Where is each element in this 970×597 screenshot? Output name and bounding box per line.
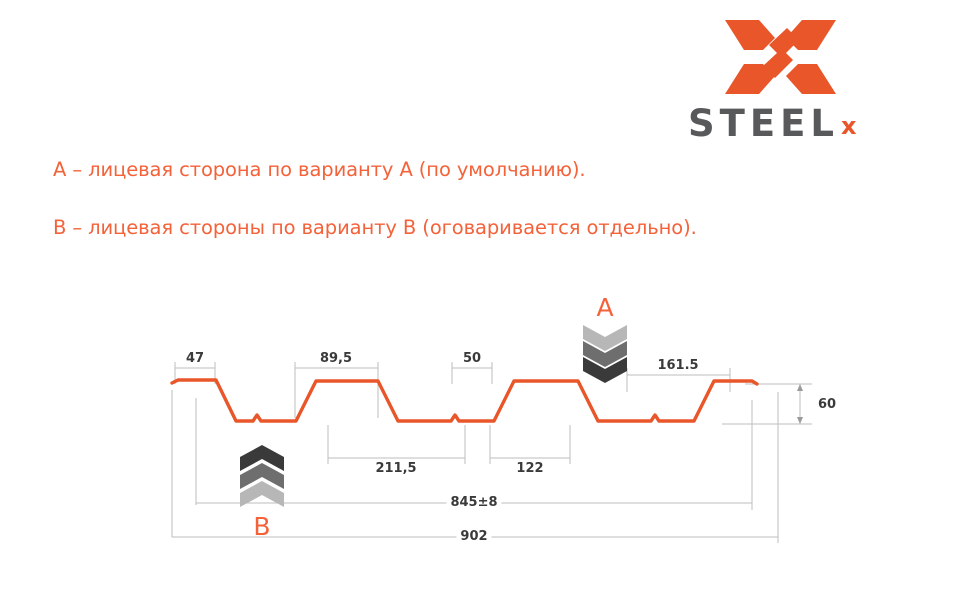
dim-label-47: 47 — [182, 351, 208, 366]
marker-b-chevrons — [240, 445, 284, 507]
dim-label-902: 902 — [456, 529, 491, 544]
profile-outline — [172, 380, 757, 421]
marker-b-letter: В — [253, 512, 270, 541]
marker-a-chevrons — [583, 325, 627, 383]
profile-technical-drawing: 47 89,5 50 161.5 211,5 122 845±8 902 60 … — [0, 0, 970, 597]
dim-label-60: 60 — [814, 397, 840, 412]
dim-label-845: 845±8 — [446, 495, 501, 510]
dim-label-161-5: 161.5 — [653, 358, 702, 373]
dim-label-211-5: 211,5 — [371, 461, 420, 476]
dim-label-89-5: 89,5 — [316, 351, 356, 366]
marker-a-letter: А — [596, 293, 613, 322]
page-root: STEEL x А – лицевая сторона по варианту … — [0, 0, 970, 597]
dim-label-50: 50 — [459, 351, 485, 366]
dim-label-122: 122 — [512, 461, 547, 476]
